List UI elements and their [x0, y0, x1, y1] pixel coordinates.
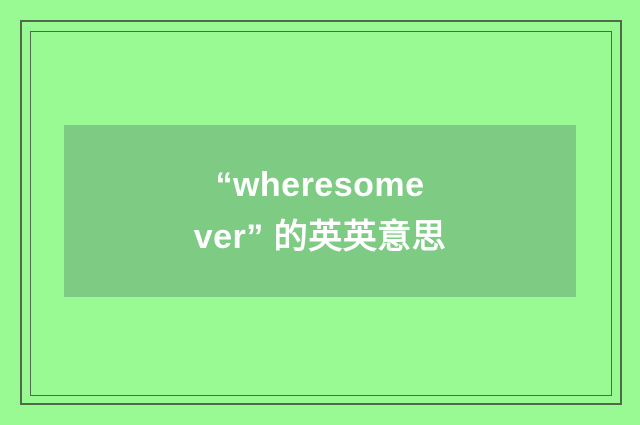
- title-line-two-cjk: 的英英意思: [274, 218, 447, 256]
- title-panel: “wheresome ver”的英英意思: [64, 125, 576, 297]
- title-line-two-latin: ver”: [194, 218, 264, 256]
- title-line-two: ver”的英英意思: [194, 211, 447, 263]
- title-line-one: “wheresome: [215, 159, 424, 211]
- poster-canvas: “wheresome ver”的英英意思: [0, 0, 640, 425]
